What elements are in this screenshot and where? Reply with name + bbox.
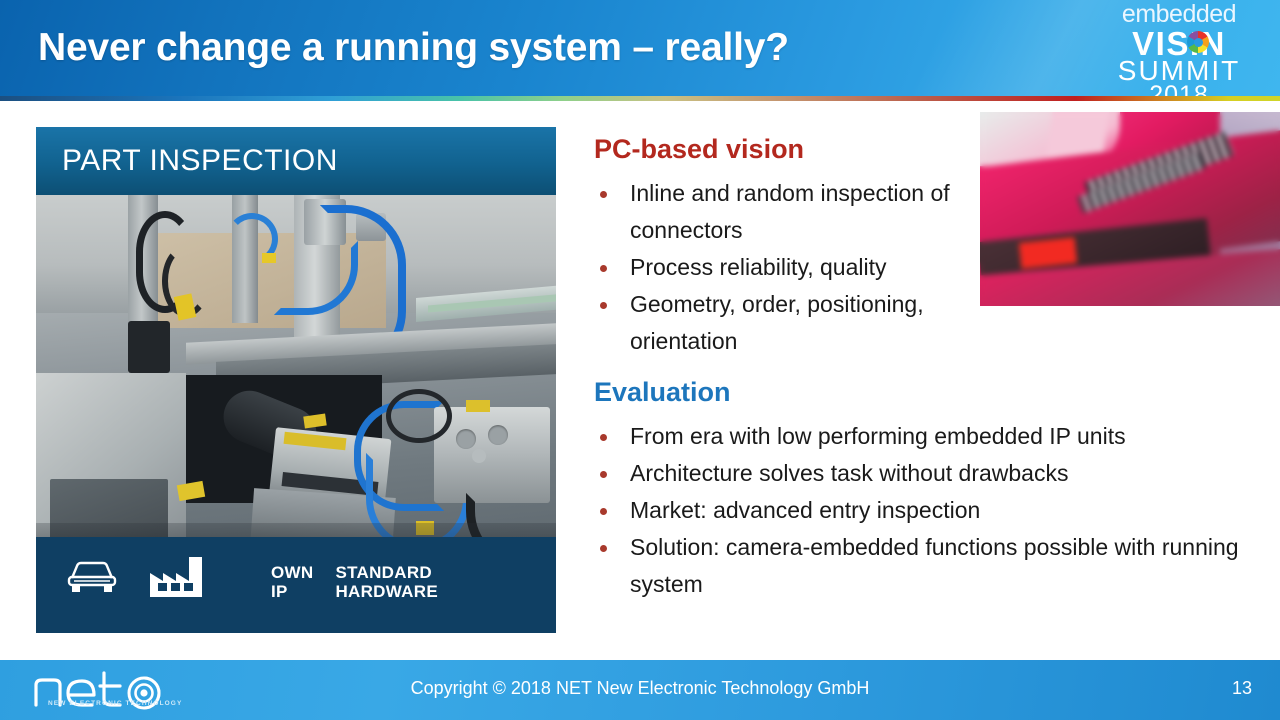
section-heading: PC-based vision — [594, 133, 1264, 165]
slide-footer: NEW ELECTRONIC TECHNOLOGY Copyright © 20… — [0, 660, 1280, 720]
part-inspection-card: PART INSPECTION — [36, 127, 556, 633]
list-item: Process reliability, quality — [594, 249, 1010, 286]
bullet-list: From era with low performing embedded IP… — [594, 418, 1264, 603]
car-icon — [64, 556, 120, 601]
list-item: Architecture solves task without drawbac… — [594, 455, 1264, 492]
list-item: From era with low performing embedded IP… — [594, 418, 1264, 455]
page-title: Never change a running system – really? — [38, 26, 789, 70]
net-logo-tagline: NEW ELECTRONIC TECHNOLOGY — [48, 700, 182, 707]
card-caption-bar: PART INSPECTION — [36, 127, 556, 195]
logo-line-vision: VISIN — [1094, 27, 1264, 58]
list-item: Inline and random inspection of connecto… — [594, 175, 1010, 249]
card-footer-strip: OWN IP STANDARD HARDWARE — [36, 537, 556, 633]
slide-header: Never change a running system – really? … — [0, 0, 1280, 96]
embedded-vision-summit-logo: embedded VISIN SUMMIT 2018 — [1094, 2, 1264, 96]
list-item: Geometry, order, positioning, orientatio… — [594, 286, 1010, 360]
bullet-list: Inline and random inspection of connecto… — [594, 175, 1264, 360]
card-label-group: OWN IP STANDARD HARDWARE — [271, 563, 438, 601]
card-caption-label: PART INSPECTION — [62, 144, 338, 178]
copyright-text: Copyright © 2018 NET New Electronic Tech… — [0, 678, 1280, 699]
machine-photo — [36, 193, 556, 565]
factory-icon — [146, 553, 208, 604]
page-number: 13 — [1232, 678, 1252, 699]
header-accent-rule — [0, 96, 1280, 101]
content-column: PC-based vision Inline and random inspec… — [594, 133, 1264, 603]
list-item: Solution: camera-embedded functions poss… — [594, 529, 1264, 603]
color-wheel-icon — [1187, 31, 1209, 53]
list-item: Market: advanced entry inspection — [594, 492, 1264, 529]
section-pc-based-vision: PC-based vision Inline and random inspec… — [594, 133, 1264, 360]
section-heading: Evaluation — [594, 376, 1264, 408]
section-evaluation: Evaluation From era with low performing … — [594, 376, 1264, 603]
card-icon-group — [64, 553, 208, 604]
label-standard-hardware: STANDARD HARDWARE — [335, 563, 438, 601]
label-own-ip: OWN IP — [271, 563, 313, 601]
